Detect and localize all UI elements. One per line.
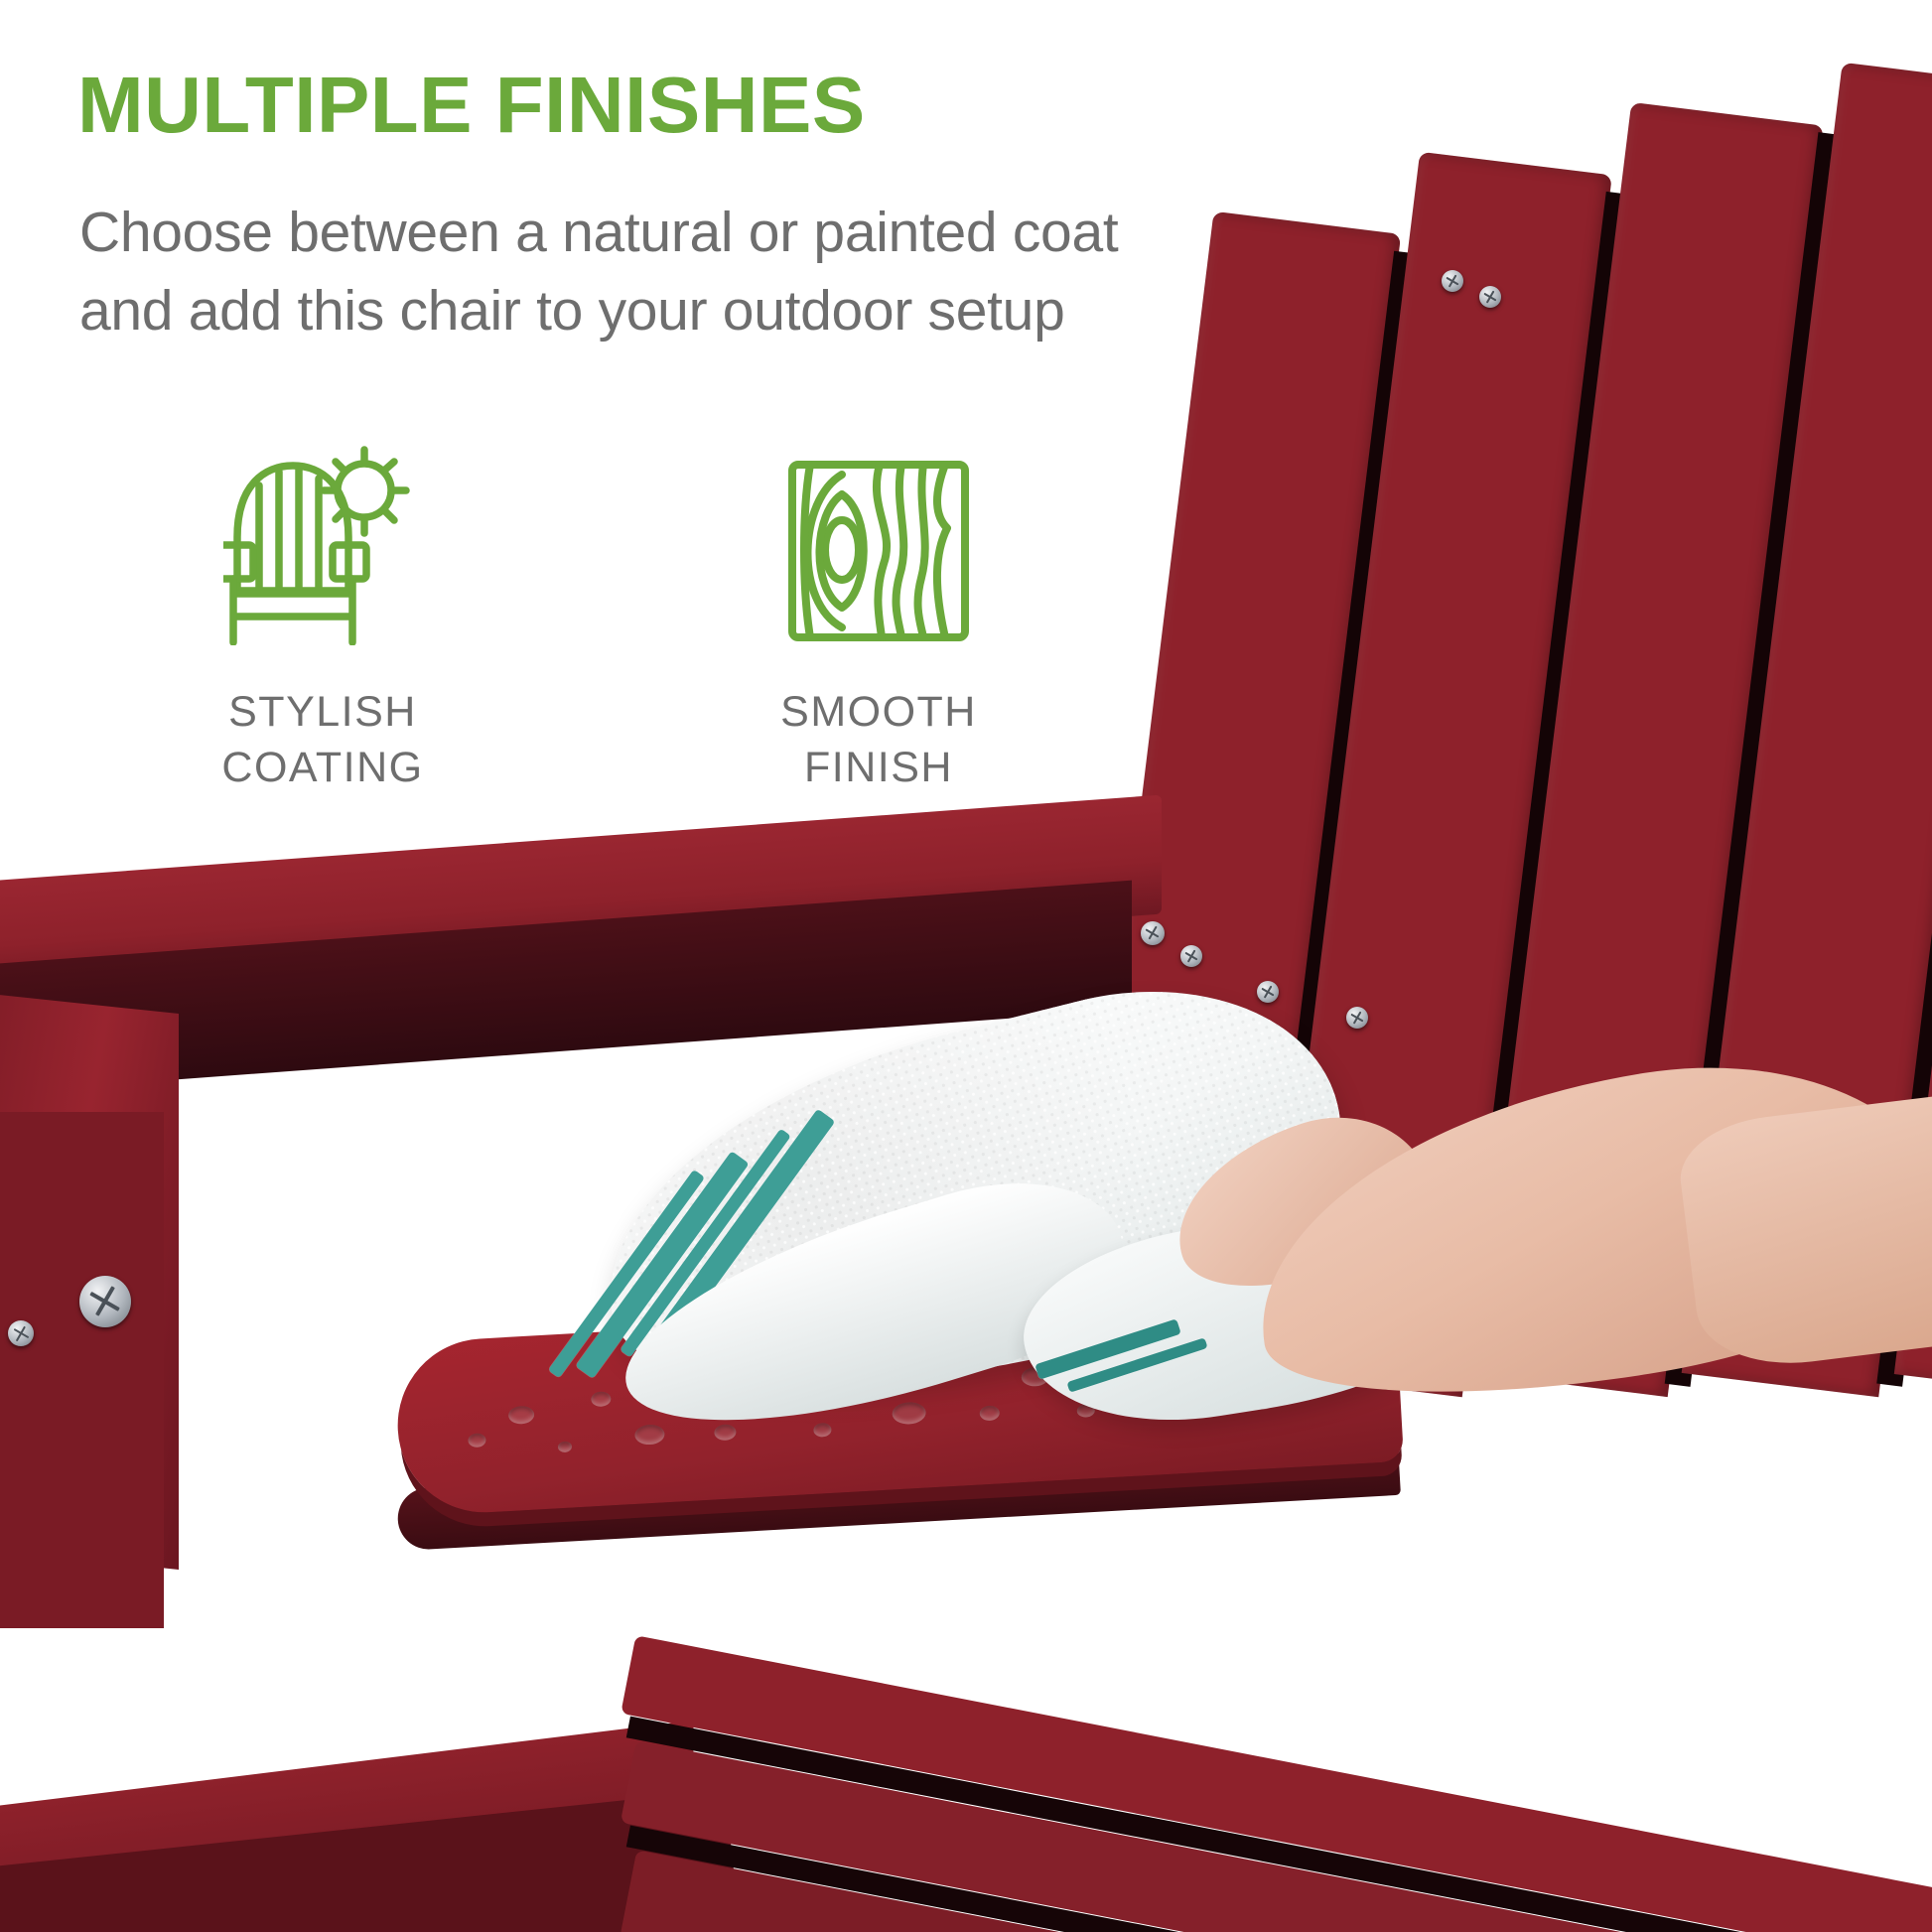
wood-grain-icon [784,427,973,645]
chair-lower-left-board [0,1721,694,1932]
feature-caption-line-1: STYLISH [221,685,423,741]
chair-arm-top-surface [0,795,1162,1003]
feature-caption-line-1: SMOOTH [780,685,977,741]
subheading-line-1: Choose between a natural or painted coat [79,194,1118,272]
hex-bolt-icon [79,1276,131,1327]
screw-icon [1141,921,1165,945]
feature-stylish-coating: STYLISH COATING [179,427,467,796]
armrest-board [393,1288,1404,1517]
feature-caption-line-2: COATING [221,741,423,796]
page-title: MULTIPLE FINISHES [77,66,866,145]
screw-icon [1346,1007,1368,1029]
feature-caption: STYLISH COATING [221,685,423,796]
screw-icon [1257,981,1279,1003]
feature-smooth-finish: SMOOTH FINISH [735,427,1023,796]
armrest-edge [396,1434,1401,1551]
chair-seat-slats [616,1678,1932,1932]
cleaning-towel [596,1033,1350,1370]
screw-icon [1479,286,1501,308]
chair-left-rail [0,1112,164,1628]
screw-icon [1180,945,1202,967]
adirondack-chair-sun-icon [223,427,422,645]
subheading-line-2: and add this chair to your outdoor setup [79,272,1118,350]
feature-list: STYLISH COATING [179,427,1023,796]
chair-lower-left-shadow [0,1790,740,1932]
screw-icon [8,1320,34,1346]
screw-icon [1442,270,1463,292]
chair-left-support-post [0,992,179,1570]
chair-backrest [1122,99,1932,1390]
product-feature-banner: MULTIPLE FINISHES Choose between a natur… [0,0,1932,1932]
hand-holding-towel [1132,1042,1886,1400]
feature-caption-line-2: FINISH [780,741,977,796]
chair-arm-shadow-face [0,881,1132,1096]
feature-caption: SMOOTH FINISH [780,685,977,796]
subheading: Choose between a natural or painted coat… [79,194,1118,349]
